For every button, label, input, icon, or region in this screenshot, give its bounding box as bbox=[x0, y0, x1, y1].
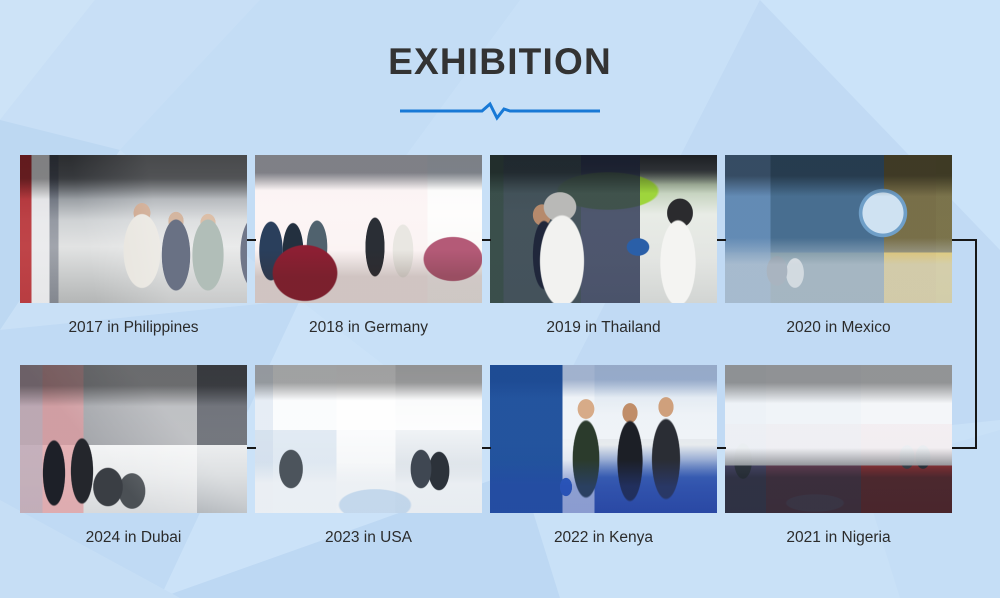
gallery-card[interactable]: 2018 in Germany bbox=[255, 155, 482, 337]
timeline-connector-wrap-top bbox=[952, 239, 977, 241]
gallery-caption: 2022 in Kenya bbox=[490, 529, 717, 547]
gallery-caption: 2021 in Nigeria bbox=[725, 529, 952, 547]
gallery-caption: 2019 in Thailand bbox=[490, 319, 717, 337]
gallery-card[interactable]: 2024 in Dubai bbox=[20, 365, 247, 547]
bottom-white-strip bbox=[0, 598, 1000, 607]
timeline-connector bbox=[247, 447, 256, 449]
gallery-card[interactable]: 2017 in Philippines bbox=[20, 155, 247, 337]
gallery-caption: 2020 in Mexico bbox=[725, 319, 952, 337]
exhibition-photo-2018-germany[interactable] bbox=[255, 155, 482, 303]
timeline-connector-wrap-side bbox=[975, 239, 977, 449]
timeline-connector bbox=[717, 447, 726, 449]
exhibition-photo-2022-kenya[interactable] bbox=[490, 365, 717, 513]
page-title: EXHIBITION bbox=[0, 40, 1000, 84]
gallery-caption: 2018 in Germany bbox=[255, 319, 482, 337]
gallery-card[interactable]: 2020 in Mexico bbox=[725, 155, 952, 337]
exhibition-banner: EXHIBITION 2017 in Philippines 2018 in G… bbox=[0, 0, 1000, 607]
exhibition-photo-2024-dubai[interactable] bbox=[20, 365, 247, 513]
gallery-caption: 2024 in Dubai bbox=[20, 529, 247, 547]
exhibition-photo-2021-nigeria[interactable] bbox=[725, 365, 952, 513]
gallery-card[interactable]: 2019 in Thailand bbox=[490, 155, 717, 337]
timeline-connector-wrap-bottom bbox=[952, 447, 977, 449]
header: EXHIBITION bbox=[0, 40, 1000, 122]
exhibition-photo-2023-usa[interactable] bbox=[255, 365, 482, 513]
exhibition-photo-2019-thailand[interactable] bbox=[490, 155, 717, 303]
gallery-caption: 2023 in USA bbox=[255, 529, 482, 547]
gallery-card[interactable]: 2021 in Nigeria bbox=[725, 365, 952, 547]
gallery-card[interactable]: 2023 in USA bbox=[255, 365, 482, 547]
gallery-caption: 2017 in Philippines bbox=[20, 319, 247, 337]
timeline-connector bbox=[717, 239, 726, 241]
heartbeat-divider-icon bbox=[400, 100, 600, 122]
gallery-card[interactable]: 2022 in Kenya bbox=[490, 365, 717, 547]
exhibition-photo-2017-philippines[interactable] bbox=[20, 155, 247, 303]
timeline-connector bbox=[247, 239, 256, 241]
timeline-connector bbox=[482, 239, 491, 241]
exhibition-photo-2020-mexico[interactable] bbox=[725, 155, 952, 303]
timeline-connector bbox=[482, 447, 491, 449]
